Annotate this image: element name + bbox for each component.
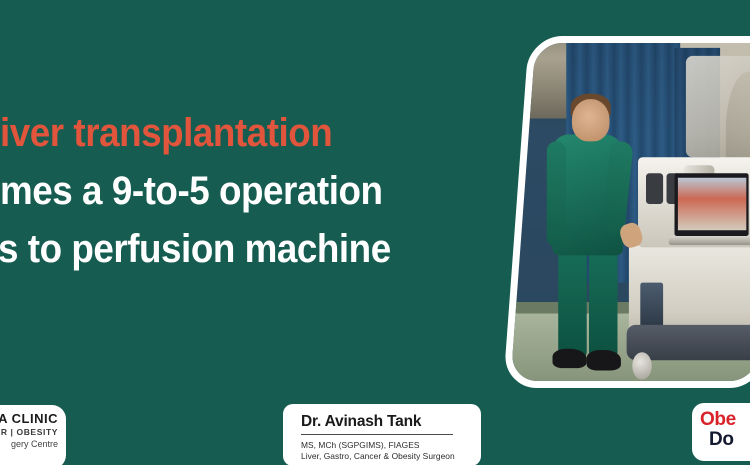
obesity-doc-logo-card[interactable]: Obe Do (692, 403, 750, 461)
headline-line-2: omes a 9-to-5 operation (0, 162, 456, 220)
obesity-doc-logo-top: Obe (700, 410, 750, 430)
clinic-logo-subtitle: ER | OBESITY (0, 426, 58, 438)
obesity-doc-logo-bottom: Do (700, 430, 750, 450)
photo-vignette (504, 36, 750, 388)
hero-photo: ano (503, 36, 750, 388)
headline-line-3: ks to perfusion machine (0, 220, 456, 278)
doctor-name: Dr. Avinash Tank (301, 413, 481, 431)
hero-photo-content: ano (504, 36, 750, 388)
doctor-qualifications: MS, MCh (SGPGIMS), FIAGES (301, 440, 481, 451)
doctor-specialty: Liver, Gastro, Cancer & Obesity Surgeon (301, 451, 481, 462)
clinic-logo-subtitle-2: gery Centre (0, 438, 58, 450)
clinic-logo-card[interactable]: A CLINIC ER | OBESITY gery Centre (0, 405, 66, 465)
doctor-name-divider (301, 434, 453, 435)
headline-line-1: Liver transplantation (0, 104, 456, 162)
headline-block: Liver transplantation omes a 9-to-5 oper… (0, 104, 498, 278)
doctor-info-card[interactable]: Dr. Avinash Tank MS, MCh (SGPGIMS), FIAG… (283, 404, 481, 465)
promo-banner: Liver transplantation omes a 9-to-5 oper… (0, 0, 750, 465)
clinic-logo-name: A CLINIC (0, 411, 58, 426)
